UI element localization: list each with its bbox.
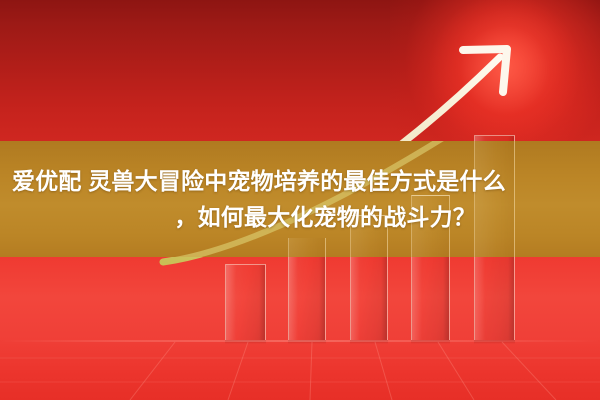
perspective-floor [0,340,600,400]
promo-banner: 爱优配 灵兽大冒险中宠物培养的最佳方式是什么 ，如何最大化宠物的战斗力？ [0,0,600,400]
chart-bar-1 [225,264,266,340]
headline-line-2: ，如何最大化宠物的战斗力？ [12,199,588,235]
background-top-red [0,0,600,141]
bar-side-face [259,265,265,340]
headline-block: 爱优配 灵兽大冒险中宠物培养的最佳方式是什么 ，如何最大化宠物的战斗力？ [0,141,600,257]
floor-grid-icon [0,340,600,400]
headline-line-1: 爱优配 灵兽大冒险中宠物培养的最佳方式是什么 [12,163,588,199]
bar-highlight [226,265,236,340]
